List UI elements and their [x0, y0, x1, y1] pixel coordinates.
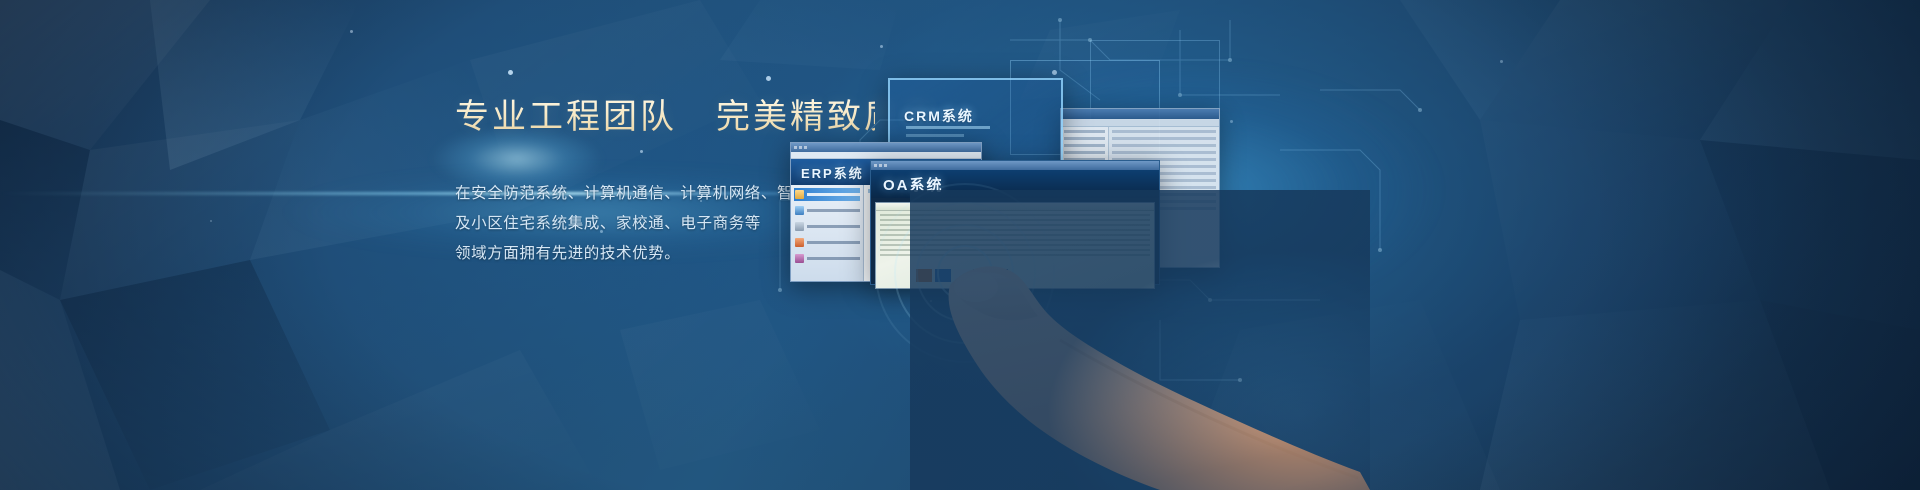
chart-icon	[795, 238, 804, 247]
erp-window-title: ERP系统	[801, 163, 864, 182]
oa-window-titlebar	[871, 161, 1159, 170]
grid-window-toolbar	[1061, 119, 1219, 127]
crm-subtitle-bar	[906, 126, 990, 129]
erp-window-menubar	[791, 152, 981, 159]
erp-nav-item[interactable]	[794, 220, 860, 233]
folder-icon	[795, 190, 804, 199]
software-screens-cluster: CRM系统 ERP系统	[760, 0, 1920, 490]
report-icon	[795, 254, 804, 263]
erp-nav-item[interactable]	[794, 204, 860, 217]
erp-nav-item[interactable]	[794, 236, 860, 249]
hero-banner: 专业工程团队 完美精致质量 在安全防范系统、计算机通信、计算机网络、智能大厦 及…	[0, 0, 1920, 490]
hand-pointing-icon	[910, 190, 1370, 490]
user-icon	[795, 206, 804, 215]
erp-nav-item[interactable]	[794, 188, 860, 201]
erp-nav-item[interactable]	[794, 252, 860, 265]
erp-window-titlebar	[791, 143, 981, 152]
crm-window-title: CRM系统	[904, 106, 974, 126]
list-icon	[795, 222, 804, 231]
crm-subtitle-bar-2	[906, 134, 964, 137]
headline-part-1: 专业工程团队	[455, 99, 677, 136]
grid-window-titlebar	[1061, 109, 1219, 119]
erp-sidebar[interactable]	[791, 185, 863, 281]
